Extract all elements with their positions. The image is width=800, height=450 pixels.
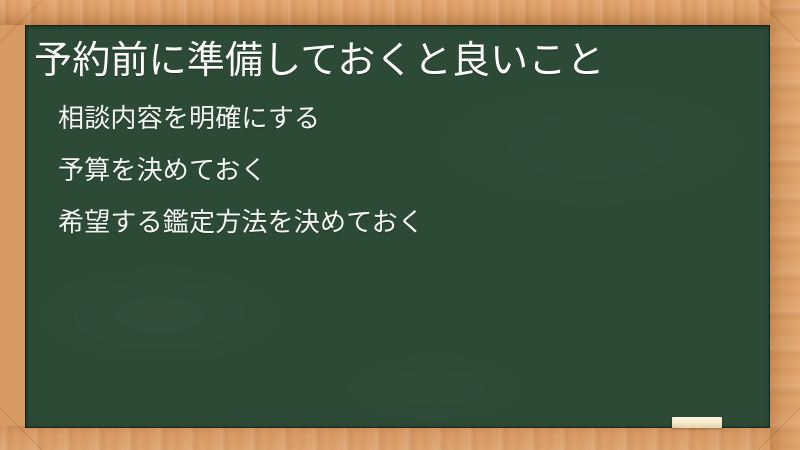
list-item: 希望する鑑定方法を決めておく <box>58 210 770 236</box>
frame-rail-bottom <box>0 426 800 450</box>
frame-rail-top <box>0 0 800 25</box>
slide-title: 予約前に準備しておくと良いこと <box>34 38 770 83</box>
frame-stile-left <box>0 0 25 450</box>
preparation-list: 相談内容を明確にする 予算を決めておく 希望する鑑定方法を決めておく <box>34 106 770 236</box>
chalkboard: 予約前に準備しておくと良いこと 相談内容を明確にする 予算を決めておく 希望する… <box>25 25 770 428</box>
slide-canvas: 予約前に準備しておくと良いこと 相談内容を明確にする 予算を決めておく 希望する… <box>0 0 800 450</box>
list-item: 相談内容を明確にする <box>58 106 770 132</box>
chalk-stick-icon <box>672 417 722 428</box>
chalkboard-content: 予約前に準備しておくと良いこと 相談内容を明確にする 予算を決めておく 希望する… <box>25 25 770 428</box>
list-item: 予算を決めておく <box>58 158 770 184</box>
frame-stile-right <box>770 0 800 450</box>
